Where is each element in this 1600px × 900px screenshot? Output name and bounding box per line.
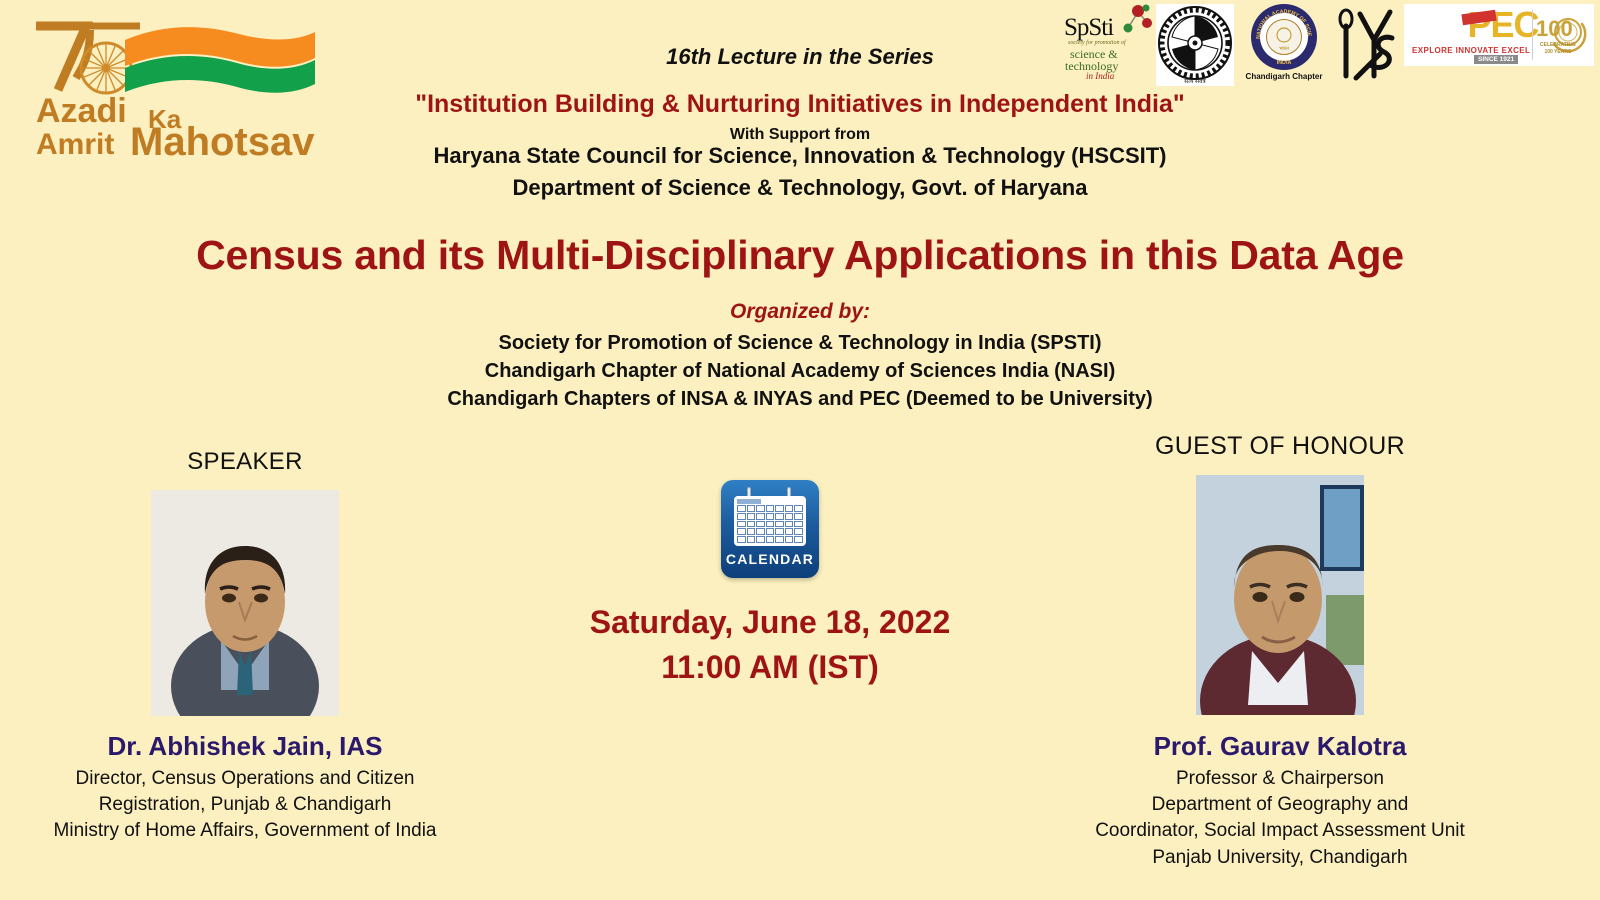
guest-affiliation: Professor & Chairperson Department of Ge…	[1000, 766, 1560, 871]
spsti-wordmark: SpSti	[1064, 14, 1113, 42]
speaker-section: SPEAKER Dr. Abhishek Jain, IAS Director,…	[0, 448, 490, 845]
support-org-line-1: Haryana State Council for Science, Innov…	[0, 143, 1600, 169]
organized-by-label: Organized by:	[0, 300, 1600, 324]
organizer-line-1: Society for Promotion of Science & Techn…	[0, 332, 1600, 355]
guest-affiliation-line-3: Coordinator, Social Impact Assessment Un…	[1000, 818, 1560, 844]
event-time: 11:00 AM (IST)	[560, 649, 980, 686]
calendar-icon: CALENDAR	[721, 480, 819, 578]
guest-affiliation-line-1: Professor & Chairperson	[1000, 766, 1560, 792]
speaker-affiliation-line-3: Ministry of Home Affairs, Government of …	[0, 818, 490, 844]
event-date: Saturday, June 18, 2022	[560, 604, 980, 641]
speaker-photo	[151, 490, 339, 716]
guest-name: Prof. Gaurav Kalotra	[1000, 731, 1560, 762]
speaker-affiliation-line-2: Registration, Punjab & Chandigarh	[0, 792, 490, 818]
speaker-affiliation: Director, Census Operations and Citizen …	[0, 766, 490, 845]
series-theme-title: "Institution Building & Nurturing Initia…	[0, 90, 1600, 119]
spsti-sub4: in India	[1086, 71, 1114, 81]
organizer-line-3: Chandigarh Chapters of INSA & INYAS and …	[0, 388, 1600, 411]
support-label: With Support from	[0, 126, 1600, 144]
svg-text:सत्य सर्वत्र: सत्य सर्वत्र	[1184, 77, 1206, 85]
page-title: Census and its Multi-Disciplinary Applic…	[0, 232, 1600, 279]
calendar-word-label: CALENDAR	[721, 551, 819, 567]
calendar-header-bar	[737, 499, 761, 504]
guest-of-honour-section: GUEST OF HONOUR Prof. Gaurav Kalotra Pro…	[1000, 432, 1560, 871]
speaker-portrait-image	[151, 490, 339, 716]
organizer-line-2: Chandigarh Chapter of National Academy o…	[0, 360, 1600, 383]
molecule-icon	[1114, 2, 1154, 44]
speaker-affiliation-line-1: Director, Census Operations and Citizen	[0, 766, 490, 792]
nasi-chapter-caption: Chandigarh Chapter	[1246, 72, 1323, 81]
spsti-logo: SpSti society for promotion of science &…	[1060, 4, 1152, 82]
centenary-number: 100	[1536, 16, 1573, 42]
svg-text:THE NATIONAL ACADEMY OF SCIENC: THE NATIONAL ACADEMY OF SCIENCES	[1251, 4, 1312, 39]
lecture-series-label: 16th Lecture in the Series	[0, 44, 1600, 70]
guest-role-label: GUEST OF HONOUR	[1000, 432, 1560, 461]
speaker-name: Dr. Abhishek Jain, IAS	[0, 731, 490, 762]
speaker-role-label: SPEAKER	[0, 448, 490, 476]
pec-wordmark: PEC	[1467, 4, 1538, 46]
guest-affiliation-line-4: Panjab University, Chandigarh	[1000, 845, 1560, 871]
guest-portrait-image	[1196, 475, 1364, 715]
calendar-page	[734, 496, 806, 546]
guest-photo	[1196, 475, 1364, 715]
support-org-line-2: Department of Science & Technology, Govt…	[0, 175, 1600, 201]
guest-affiliation-line-2: Department of Geography and	[1000, 792, 1560, 818]
calendar-grid	[737, 505, 803, 543]
event-datetime-section: CALENDAR Saturday, June 18, 2022 11:00 A…	[560, 480, 980, 686]
